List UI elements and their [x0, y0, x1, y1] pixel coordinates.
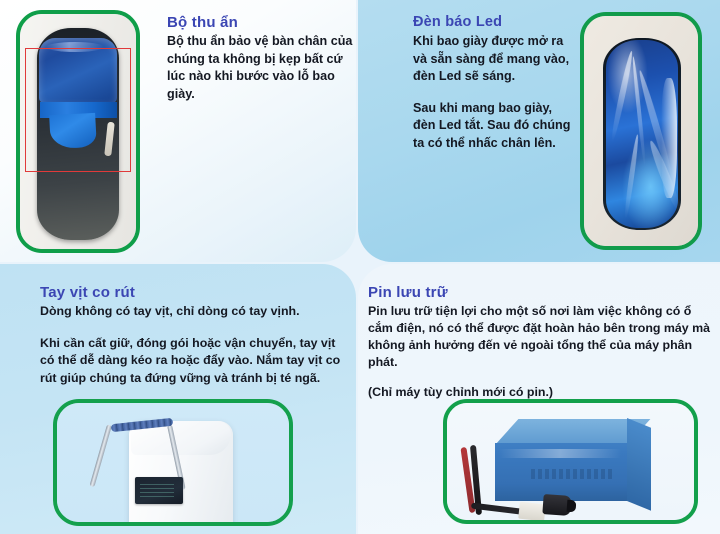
panel-heading-led-indicator: Đèn báo Led — [413, 13, 573, 32]
infographic-canvas: Bộ thu ẩn Bộ thu ẩn bảo vệ bàn chân của … — [0, 0, 720, 534]
battery-side-face-shape — [627, 418, 651, 511]
panel-hidden-receiver: Bộ thu ẩn Bộ thu ẩn bảo vệ bàn chân của … — [0, 0, 356, 262]
panel-heading-hidden-receiver: Bộ thu ẩn — [167, 13, 353, 32]
control-panel-screen-shape — [135, 477, 183, 504]
text-block-hidden-receiver: Bộ thu ẩn Bộ thu ẩn bảo vệ bàn chân của … — [167, 13, 353, 103]
panel-paragraph: Sau khi mang bao giày, đèn Led tắt. Sau … — [413, 100, 573, 153]
battery-printed-label-shape — [531, 469, 615, 479]
panel-paragraph: Bộ thu ẩn bảo vệ bàn chân của chúng ta k… — [167, 33, 353, 103]
photo-frame-storage-battery — [443, 399, 698, 524]
text-block-storage-battery: Pin lưu trữ Pin lưu trữ tiện lợi cho một… — [368, 283, 716, 401]
photo-frame-hidden-receiver — [16, 10, 140, 253]
open-shoe-cover-blue-film-photo — [584, 16, 698, 246]
panel-paragraph: Khi cần cất giữ, đóng gói hoặc vận chuyể… — [40, 335, 352, 388]
panel-heading-storage-battery: Pin lưu trữ — [368, 283, 716, 302]
photo-frame-led-indicator — [580, 12, 702, 250]
film-edge-highlight — [661, 78, 677, 198]
panel-heading-retractable-handle: Tay vịt co rút — [40, 283, 352, 302]
text-block-led-indicator: Đèn báo Led Khi bao giày được mở ra và s… — [413, 13, 573, 152]
text-block-retractable-handle: Tay vịt co rút Dòng không có tay vịt, ch… — [40, 283, 352, 387]
shoe-cover-machine-top-view-photo — [20, 14, 136, 249]
shoe-cover-body-shape — [603, 38, 681, 230]
panel-paragraph: Pin lưu trữ tiện lợi cho một số nơi làm … — [368, 303, 716, 371]
blue-lithium-battery-pack-photo — [447, 403, 694, 520]
battery-sheen-shape — [499, 449, 621, 458]
red-highlight-rectangle — [25, 48, 131, 172]
dispenser-with-retractable-handle-photo — [57, 403, 289, 522]
panel-paragraph: Dòng không có tay vịt, chỉ dòng có tay v… — [40, 303, 352, 321]
panel-paragraph: Khi bao giày được mở ra và sẵn sàng để m… — [413, 33, 573, 86]
battery-black-connector-shape — [542, 494, 571, 516]
photo-frame-retractable-handle — [53, 399, 293, 526]
